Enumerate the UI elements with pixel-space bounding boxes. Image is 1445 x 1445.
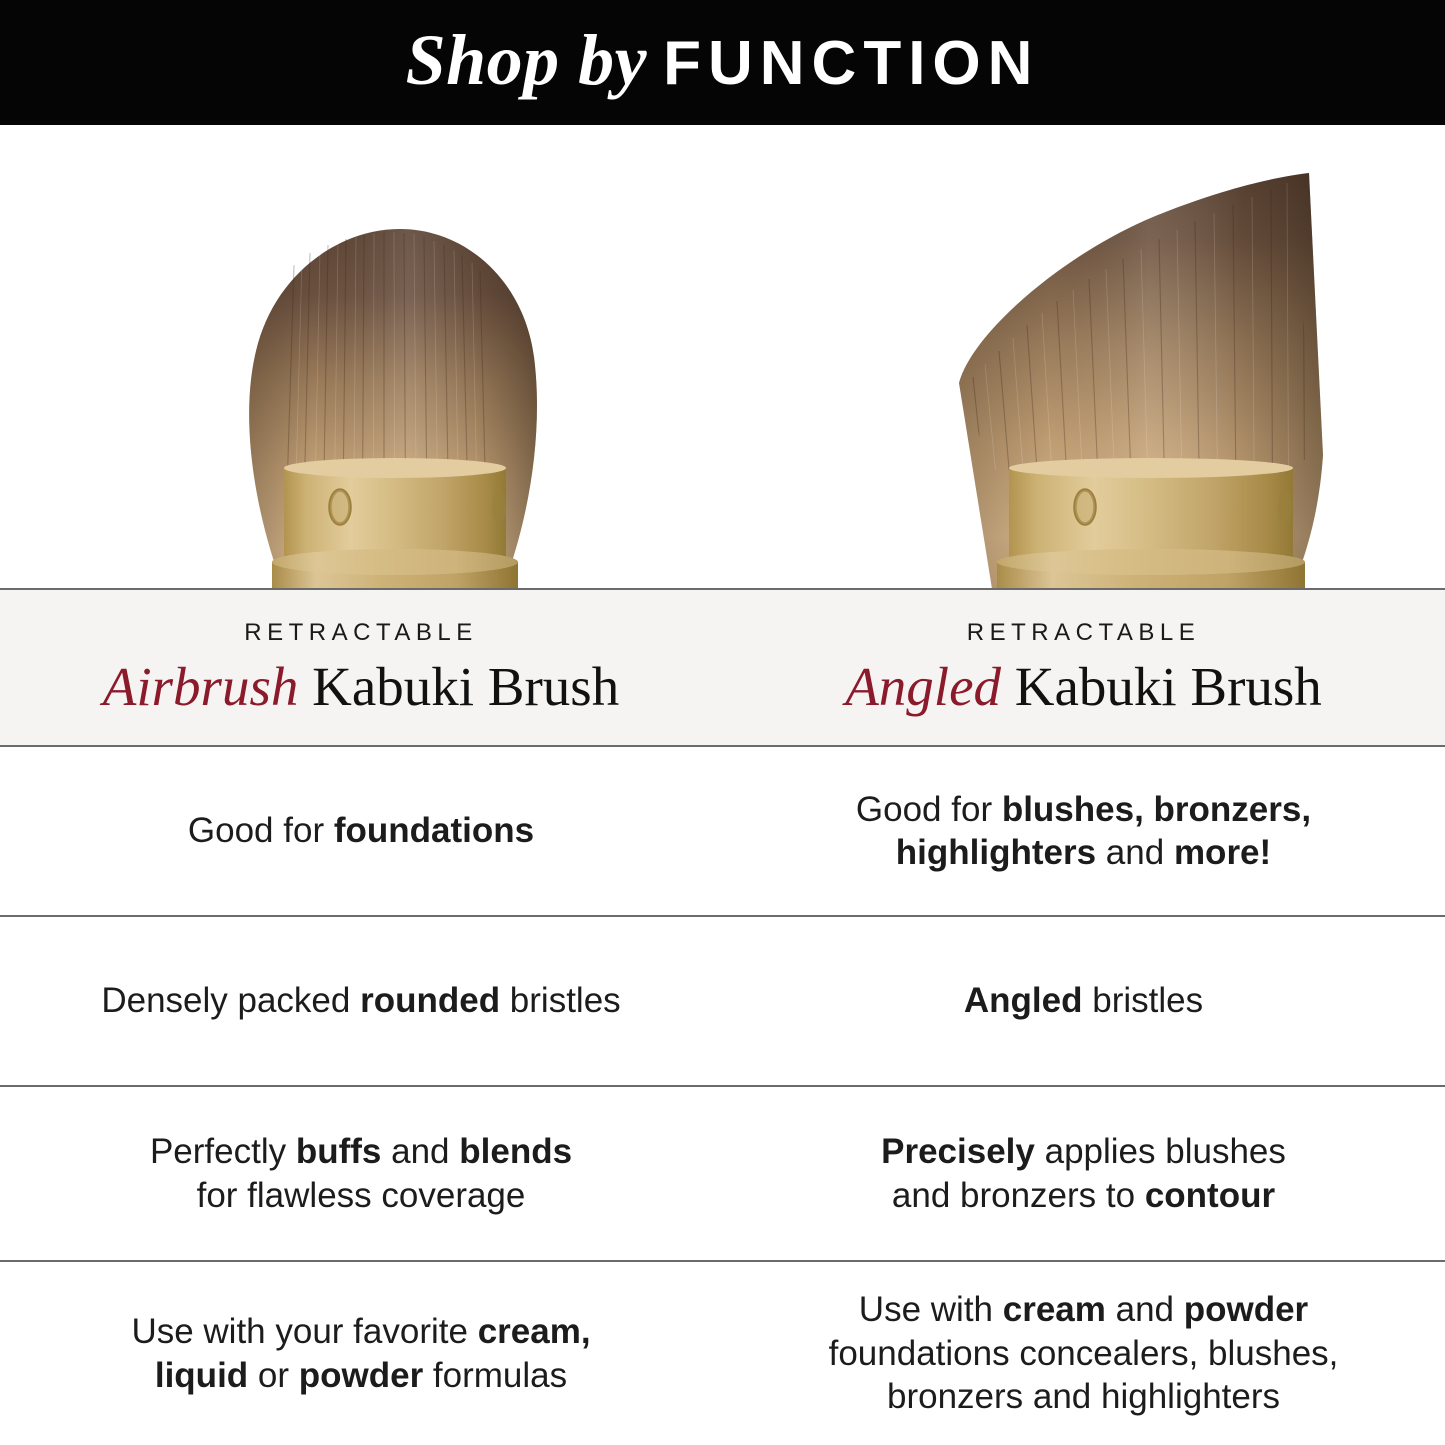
feature-cell-left: Good for foundations (0, 747, 722, 915)
comparison-table: RETRACTABLE Airbrush Kabuki Brush RETRAC… (0, 588, 1445, 1445)
page-title-bold: FUNCTION (663, 29, 1039, 98)
feature-cell-left: Use with your favorite cream,liquid or p… (0, 1262, 722, 1445)
feature-text: Good for foundations (188, 809, 534, 852)
feature-cell-right: Use with cream and powderfoundations con… (722, 1262, 1445, 1445)
feature-cell-right: Angled bristles (722, 917, 1445, 1085)
feature-text: Good for blushes, bronzers,highlighters … (856, 788, 1311, 875)
product-name-left: Airbrush Kabuki Brush (103, 658, 619, 716)
feature-row: Use with your favorite cream,liquid or p… (0, 1260, 1445, 1445)
feature-cell-left: Perfectly buffs and blendsfor flawless c… (0, 1087, 722, 1260)
product-name-plain-right: Kabuki Brush (1001, 656, 1322, 717)
feature-text: Use with cream and powderfoundations con… (829, 1288, 1339, 1418)
feature-text: Use with your favorite cream,liquid or p… (131, 1310, 590, 1397)
feature-text: Angled bristles (964, 979, 1203, 1022)
rounded-kabuki-brush-icon (88, 125, 648, 588)
feature-text: Densely packed rounded bristles (101, 979, 620, 1022)
feature-cell-left: Densely packed rounded bristles (0, 917, 722, 1085)
product-image-cell-right[interactable] (723, 125, 1445, 588)
product-eyebrow-left: RETRACTABLE (244, 619, 477, 647)
feature-cell-right: Precisely applies blushesand bronzers to… (722, 1087, 1445, 1260)
product-image-cell-left[interactable] (0, 125, 722, 588)
product-name-right: Angled Kabuki Brush (845, 658, 1322, 716)
feature-row: Good for foundations Good for blushes, b… (0, 745, 1445, 915)
feature-row: Densely packed rounded bristles Angled b… (0, 915, 1445, 1085)
feature-text: Precisely applies blushesand bronzers to… (881, 1130, 1286, 1217)
header-band: Shop byFUNCTION (0, 0, 1445, 125)
product-images-area (0, 125, 1445, 588)
product-title-cell-right: RETRACTABLE Angled Kabuki Brush (722, 590, 1445, 745)
infographic-page: Shop byFUNCTION (0, 0, 1445, 1445)
feature-text: Perfectly buffs and blendsfor flawless c… (150, 1130, 572, 1217)
feature-row: Perfectly buffs and blendsfor flawless c… (0, 1085, 1445, 1260)
page-title: Shop byFUNCTION (406, 24, 1040, 96)
product-name-accent-left: Airbrush (103, 656, 299, 717)
product-eyebrow-right: RETRACTABLE (967, 619, 1200, 647)
product-title-cell-left: RETRACTABLE Airbrush Kabuki Brush (0, 590, 722, 745)
product-name-plain-left: Kabuki Brush (298, 656, 619, 717)
product-title-row: RETRACTABLE Airbrush Kabuki Brush RETRAC… (0, 588, 1445, 745)
product-name-accent-right: Angled (845, 656, 1001, 717)
feature-cell-right: Good for blushes, bronzers,highlighters … (722, 747, 1445, 915)
page-title-script: Shop by (406, 20, 664, 100)
angled-kabuki-brush-icon (823, 125, 1383, 588)
